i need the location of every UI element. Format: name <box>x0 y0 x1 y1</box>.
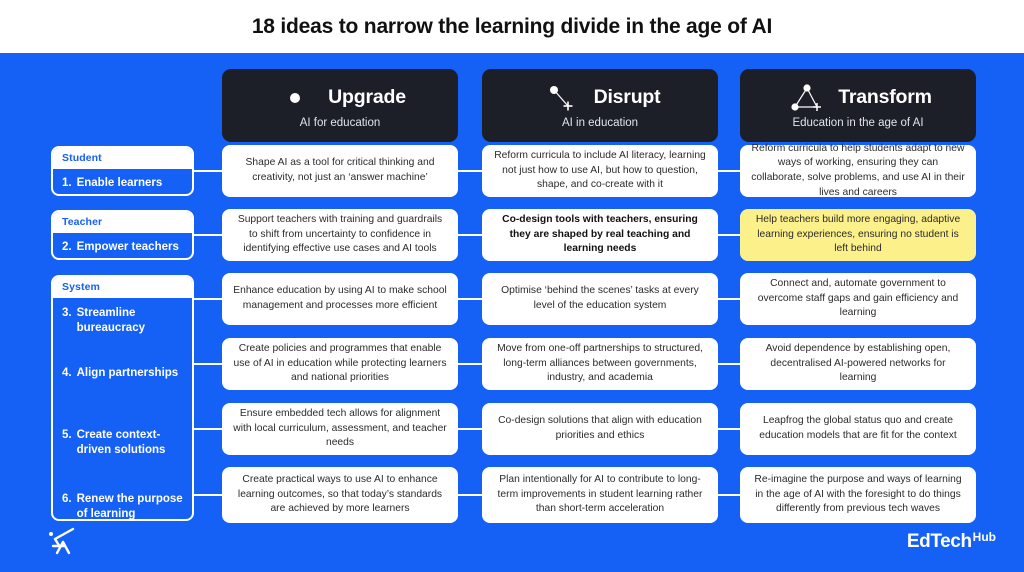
rail-item-renew-the-purpose-of-learning[interactable]: 6. Renew the purpose of learning <box>53 484 192 521</box>
rail-item-label: Empower teachers <box>77 240 184 255</box>
rail-item-number: 4. <box>62 366 72 381</box>
rail-item-number: 2. <box>62 240 72 255</box>
rail-item-label: Create context-driven solutions <box>77 428 184 457</box>
single-dot-icon <box>274 83 316 113</box>
group-title: System <box>53 277 192 298</box>
connector-line <box>194 234 224 236</box>
diagram-canvas: Upgrade AI for education Disrupt AI in e… <box>0 53 1024 572</box>
rail-item-align-partnerships[interactable]: 4. Align partnerships <box>53 358 192 420</box>
connector-line <box>458 494 484 496</box>
group-student: Student 1. Enable learners <box>51 146 194 196</box>
rail-item-number: 5. <box>62 428 72 443</box>
idea-card[interactable]: Re-imagine the purpose and ways of learn… <box>740 467 976 523</box>
idea-card[interactable]: Enhance education by using AI to make sc… <box>222 273 458 325</box>
column-title: Disrupt <box>594 86 661 109</box>
rail-item-number: 3. <box>62 306 72 321</box>
connector-line <box>194 170 224 172</box>
column-subtitle: AI for education <box>300 117 381 129</box>
triangle-network-icon <box>784 83 826 113</box>
edtech-hub-logo: EdTech Hub <box>907 531 996 553</box>
group-items: 2. Empower teachers <box>53 233 192 260</box>
idea-card[interactable]: Reform curricula to include AI literacy,… <box>482 145 718 197</box>
group-system: System 3. Streamline bureaucracy 4. Alig… <box>51 275 194 521</box>
connector-line <box>194 363 224 365</box>
connector-line <box>458 298 484 300</box>
logo-superscript: Hub <box>973 530 996 544</box>
column-header-top: Upgrade <box>274 83 406 113</box>
rail-item-label: Align partnerships <box>77 366 184 381</box>
connector-line <box>194 298 224 300</box>
idea-card[interactable]: Co-design solutions that align with educ… <box>482 403 718 455</box>
idea-card[interactable]: Leapfrog the global status quo and creat… <box>740 403 976 455</box>
idea-card[interactable]: Create policies and programmes that enab… <box>222 338 458 390</box>
connector-line <box>458 234 484 236</box>
connector-line <box>718 363 742 365</box>
connector-line <box>194 494 224 496</box>
connector-line <box>458 170 484 172</box>
idea-card[interactable]: Ensure embedded tech allows for alignmen… <box>222 403 458 455</box>
two-node-line-icon <box>540 83 582 113</box>
connector-line <box>718 170 742 172</box>
rail-item-label: Renew the purpose of learning <box>77 492 184 521</box>
rail-item-create-context-driven-solutions[interactable]: 5. Create context-driven solutions <box>53 420 192 484</box>
group-title: Student <box>53 148 192 169</box>
column-header-disrupt: Disrupt AI in education <box>482 69 718 142</box>
title-bar: 18 ideas to narrow the learning divide i… <box>0 0 1024 53</box>
idea-card[interactable]: Plan intentionally for AI to contribute … <box>482 467 718 523</box>
idea-card[interactable]: Move from one-off partnerships to struct… <box>482 338 718 390</box>
rail-item-label: Enable learners <box>77 176 184 191</box>
column-title: Upgrade <box>328 86 406 109</box>
column-header-top: Transform <box>784 83 932 113</box>
group-title: Teacher <box>53 212 192 233</box>
rail-item-number: 1. <box>62 176 72 191</box>
idea-card[interactable]: Support teachers with training and guard… <box>222 209 458 261</box>
rail-item-label: Streamline bureaucracy <box>77 306 184 335</box>
rail-item-enable-learners[interactable]: 1. Enable learners <box>53 169 192 196</box>
idea-card[interactable]: Avoid dependence by establishing open, d… <box>740 338 976 390</box>
telescope-icon <box>44 522 80 558</box>
connector-line <box>718 494 742 496</box>
column-header-top: Disrupt <box>540 83 661 113</box>
group-items: 3. Streamline bureaucracy 4. Align partn… <box>53 298 192 521</box>
idea-card-highlighted[interactable]: Help teachers build more engaging, adapt… <box>740 209 976 261</box>
connector-line <box>458 428 484 430</box>
infographic-page: 18 ideas to narrow the learning divide i… <box>0 0 1024 572</box>
connector-line <box>194 428 224 430</box>
idea-card[interactable]: Reform curricula to help students adapt … <box>740 145 976 197</box>
column-header-upgrade: Upgrade AI for education <box>222 69 458 142</box>
idea-card[interactable]: Co-design tools with teachers, ensuring … <box>482 209 718 261</box>
column-header-transform: Transform Education in the age of AI <box>740 69 976 142</box>
idea-card[interactable]: Create practical ways to use AI to enhan… <box>222 467 458 523</box>
idea-card[interactable]: Shape AI as a tool for critical thinking… <box>222 145 458 197</box>
rail-item-number: 6. <box>62 492 72 507</box>
telescope-logo <box>44 522 80 558</box>
connector-line <box>718 234 742 236</box>
column-title: Transform <box>838 86 932 109</box>
column-subtitle: Education in the age of AI <box>792 117 923 129</box>
page-title: 18 ideas to narrow the learning divide i… <box>252 15 772 39</box>
rail-item-streamline-bureaucracy[interactable]: 3. Streamline bureaucracy <box>53 298 192 358</box>
logo-wordmark: EdTech <box>907 531 972 553</box>
column-subtitle: AI in education <box>562 117 638 129</box>
idea-card[interactable]: Optimise ‘behind the scenes’ tasks at ev… <box>482 273 718 325</box>
group-teacher: Teacher 2. Empower teachers <box>51 210 194 260</box>
connector-line <box>718 428 742 430</box>
connector-line <box>718 298 742 300</box>
idea-card[interactable]: Connect and, automate government to over… <box>740 273 976 325</box>
group-items: 1. Enable learners <box>53 169 192 196</box>
connector-line <box>458 363 484 365</box>
rail-item-empower-teachers[interactable]: 2. Empower teachers <box>53 233 192 260</box>
